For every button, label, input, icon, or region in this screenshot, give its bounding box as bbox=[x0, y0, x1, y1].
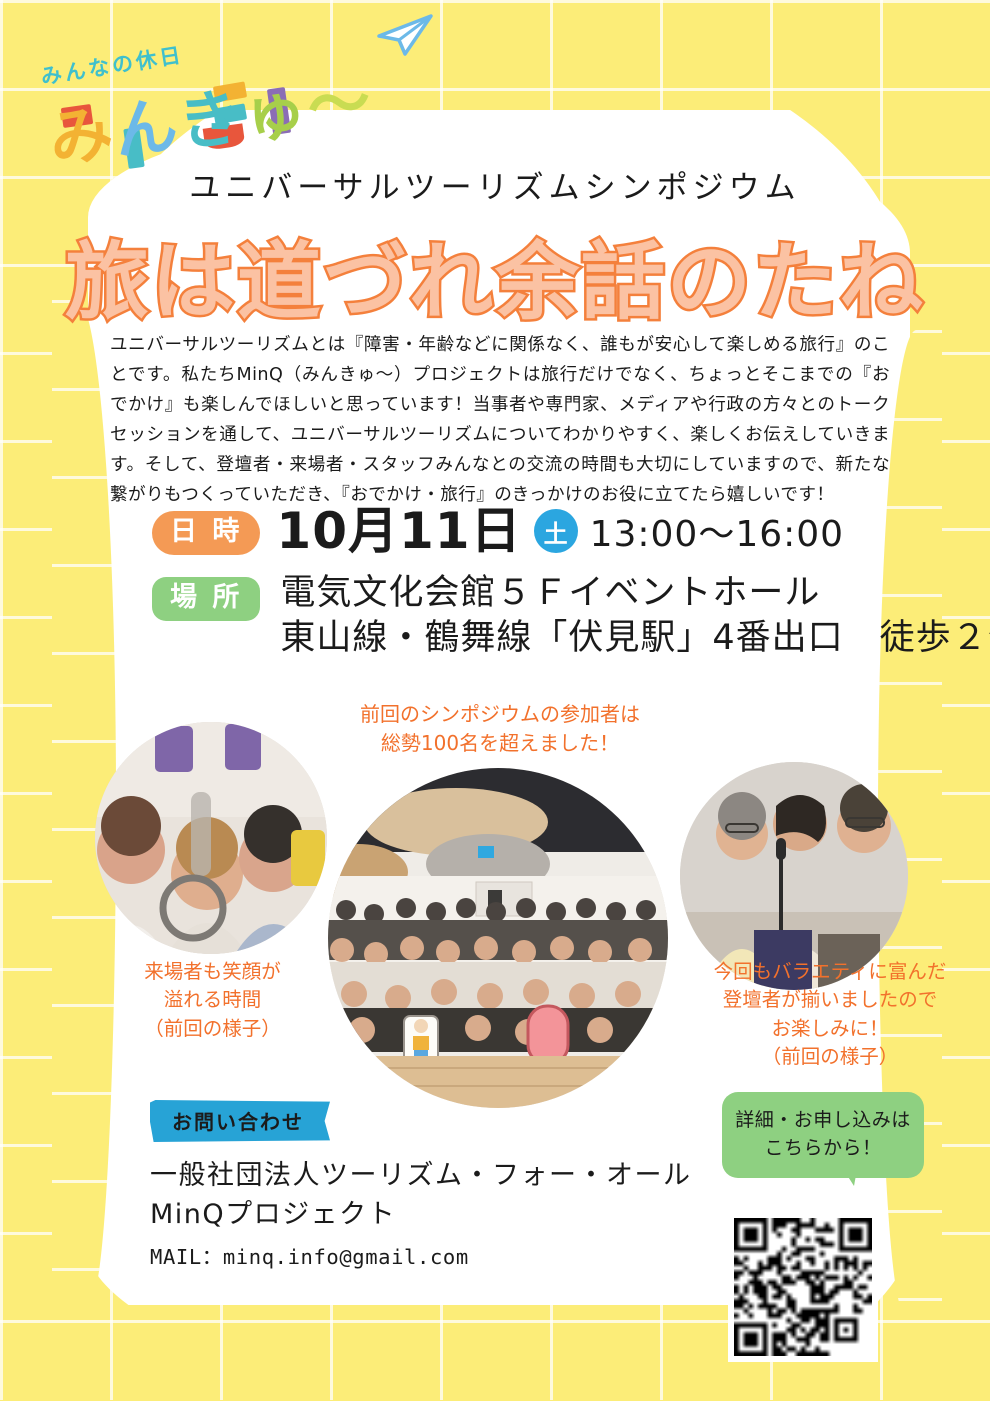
place-label-pill: 場 所 bbox=[152, 577, 260, 621]
photo-panelists bbox=[680, 762, 908, 990]
contact-section: お問い合わせ 一般社団法人ツーリズム・フォー・オール MinQプロジェクト MA… bbox=[150, 1100, 750, 1270]
logo-char-2: ん bbox=[110, 88, 183, 168]
event-subtitle: ユニバーサルツーリズムシンポジウム bbox=[0, 162, 990, 207]
place-values: 電気文化会館５Ｆイベントホール 東山線・鶴舞線「伏見駅」4番出口 徒歩２分 bbox=[280, 571, 990, 661]
contact-org-line-2: MinQプロジェクト bbox=[150, 1195, 750, 1234]
center-caption-line-1: 前回のシンポジウムの参加者は bbox=[330, 700, 670, 729]
left-photo-caption: 来場者も笑顔が 溢れる時間 （前回の様子） bbox=[80, 958, 345, 1043]
date-value: 10月11日 bbox=[276, 506, 521, 556]
contact-email: MAIL：minq.info@gmail.com bbox=[150, 1240, 750, 1270]
left-caption-line-1: 来場者も笑顔が bbox=[80, 958, 345, 986]
qr-code[interactable] bbox=[728, 1212, 878, 1362]
right-caption-line-3: お楽しみに！ bbox=[690, 1015, 970, 1043]
paper-plane-icon bbox=[375, 12, 435, 58]
photo-group-shot bbox=[328, 768, 668, 1108]
qr-callout-bubble: 詳細・お申し込みは こちらから！ bbox=[722, 1092, 924, 1178]
venue-access: 東山線・鶴舞線「伏見駅」4番出口 徒歩２分 bbox=[280, 616, 990, 661]
right-caption-line-2: 登壇者が揃いましたので bbox=[690, 986, 970, 1014]
venue-name: 電気文化会館５Ｆイベントホール bbox=[280, 571, 990, 616]
date-values: 10月11日 土 13:00〜16:00 bbox=[276, 505, 844, 557]
center-photo-caption: 前回のシンポジウムの参加者は 総勢100名を超えました！ bbox=[330, 700, 670, 758]
time-value: 13:00〜16:00 bbox=[590, 505, 845, 557]
right-caption-line-4: （前回の様子） bbox=[690, 1043, 970, 1071]
logo-char-4: ゅ bbox=[239, 72, 312, 152]
contact-org-line-1: 一般社団法人ツーリズム・フォー・オール bbox=[150, 1156, 750, 1195]
qr-bubble-line-2: こちらから！ bbox=[735, 1135, 911, 1163]
event-title: 旅は道づれ余話のたね bbox=[0, 215, 990, 336]
intro-paragraph: ユニバーサルツーリズムとは『障害・年齢などに関係なく、誰もが安心して楽しめる旅行… bbox=[110, 330, 890, 510]
photo-attendees bbox=[95, 722, 327, 954]
contact-organization: 一般社団法人ツーリズム・フォー・オール MinQプロジェクト bbox=[150, 1156, 750, 1234]
left-caption-line-2: 溢れる時間 bbox=[80, 986, 345, 1014]
center-caption-line-2: 総勢100名を超えました！ bbox=[330, 729, 670, 758]
minq-logo: みんなの休日 みんきゅ〜 bbox=[18, 44, 348, 164]
date-label-pill: 日 時 bbox=[152, 511, 260, 555]
event-info: 日 時 10月11日 土 13:00〜16:00 場 所 電気文化会館５Ｆイベン… bbox=[152, 505, 972, 675]
info-row-date: 日 時 10月11日 土 13:00〜16:00 bbox=[152, 505, 972, 557]
right-photo-caption: 今回もバラエティに富んだ 登壇者が揃いましたので お楽しみに！ （前回の様子） bbox=[690, 958, 970, 1071]
qr-bubble-line-1: 詳細・お申し込みは bbox=[735, 1107, 911, 1135]
logo-char-3: き bbox=[174, 80, 247, 160]
left-caption-line-3: （前回の様子） bbox=[80, 1015, 345, 1043]
right-caption-line-1: 今回もバラエティに富んだ bbox=[690, 958, 970, 986]
day-of-week-badge: 土 bbox=[534, 509, 578, 553]
qr-code-canvas[interactable] bbox=[734, 1218, 872, 1356]
info-row-place: 場 所 電気文化会館５Ｆイベントホール 東山線・鶴舞線「伏見駅」4番出口 徒歩２… bbox=[152, 571, 972, 661]
contact-tape-label: お問い合わせ bbox=[150, 1100, 330, 1142]
logo-char-5: 〜 bbox=[303, 64, 376, 144]
